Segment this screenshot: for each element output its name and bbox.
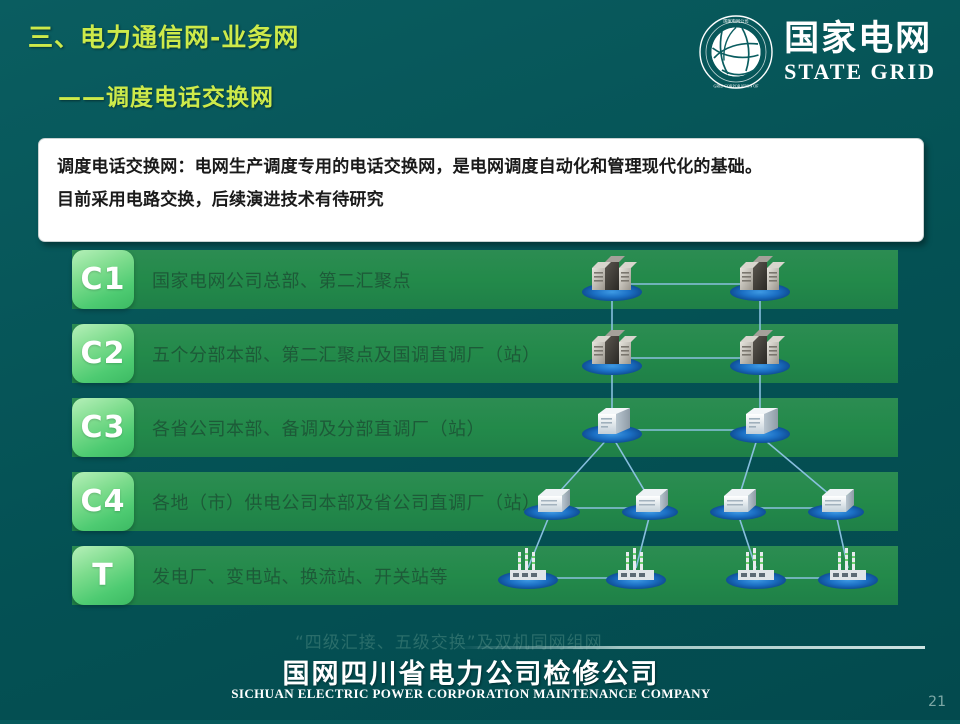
- layer-label: 发电厂、变电站、换流站、开关站等: [152, 546, 448, 605]
- logo-text-en: STATE GRID: [784, 61, 936, 83]
- layer-row-c4: C4 各地（市）供电公司本部及省公司直调厂（站）: [72, 472, 898, 531]
- layer-row-c1: C1 国家电网公司总部、第二汇聚点: [72, 250, 898, 309]
- layer-code: T: [92, 558, 113, 593]
- page-number: 21: [928, 694, 946, 710]
- layer-badge-t[interactable]: T: [72, 546, 134, 605]
- layer-badge-c2[interactable]: C2: [72, 324, 134, 383]
- callout-line-2: 目前采用电路交换，后续演进技术有待研究: [57, 188, 909, 213]
- definition-callout-box: 调度电话交换网：电网生产调度专用的电话交换网，是电网调度自动化和管理现代化的基础…: [38, 138, 924, 242]
- layer-label: 各地（市）供电公司本部及省公司直调厂（站）: [152, 472, 541, 531]
- layer-label: 国家电网公司总部、第二汇聚点: [152, 250, 411, 309]
- state-grid-emblem-icon: 国家电网公司 GRID CORPORATION OF: [698, 14, 774, 90]
- footer-divider: [455, 646, 925, 649]
- layer-code: C2: [81, 336, 126, 371]
- layer-row-t: T 发电厂、变电站、换流站、开关站等: [72, 546, 898, 605]
- page-subtitle: ——调度电话交换网: [58, 78, 274, 112]
- logo-text-cn: 国家电网: [784, 22, 936, 57]
- layer-badge-c4[interactable]: C4: [72, 472, 134, 531]
- page-title: 三、电力通信网-业务网: [28, 18, 299, 54]
- topology-summary-note: “四级汇接、五级交换”及双机同网组网: [295, 628, 603, 653]
- footer-company-en: SICHUAN ELECTRIC POWER CORPORATION MAINT…: [0, 686, 960, 702]
- layer-row-c3: C3 各省公司本部、备调及分部直调厂（站）: [72, 398, 898, 457]
- state-grid-logo: 国家电网公司 GRID CORPORATION OF 国家电网 STATE GR…: [698, 14, 936, 90]
- layer-badge-c3[interactable]: C3: [72, 398, 134, 457]
- svg-text:GRID CORPORATION OF: GRID CORPORATION OF: [714, 84, 760, 89]
- slide-canvas: 三、电力通信网-业务网 ——调度电话交换网 国家电网公司 GRID CORPOR…: [0, 0, 960, 720]
- layer-badge-c1[interactable]: C1: [72, 250, 134, 309]
- layer-label: 各省公司本部、备调及分部直调厂（站）: [152, 398, 485, 457]
- layer-bars: C1 国家电网公司总部、第二汇聚点 C2 五个分部本部、第二汇聚点及国调直调厂（…: [0, 250, 960, 630]
- layer-code: C1: [81, 262, 126, 297]
- layer-label: 五个分部本部、第二汇聚点及国调直调厂（站）: [152, 324, 541, 383]
- callout-line-1: 调度电话交换网：电网生产调度专用的电话交换网，是电网调度自动化和管理现代化的基础…: [57, 155, 909, 180]
- layer-code: C4: [81, 484, 126, 519]
- svg-text:国家电网公司: 国家电网公司: [724, 18, 749, 25]
- layer-row-c2: C2 五个分部本部、第二汇聚点及国调直调厂（站）: [72, 324, 898, 383]
- layer-code: C3: [81, 410, 126, 445]
